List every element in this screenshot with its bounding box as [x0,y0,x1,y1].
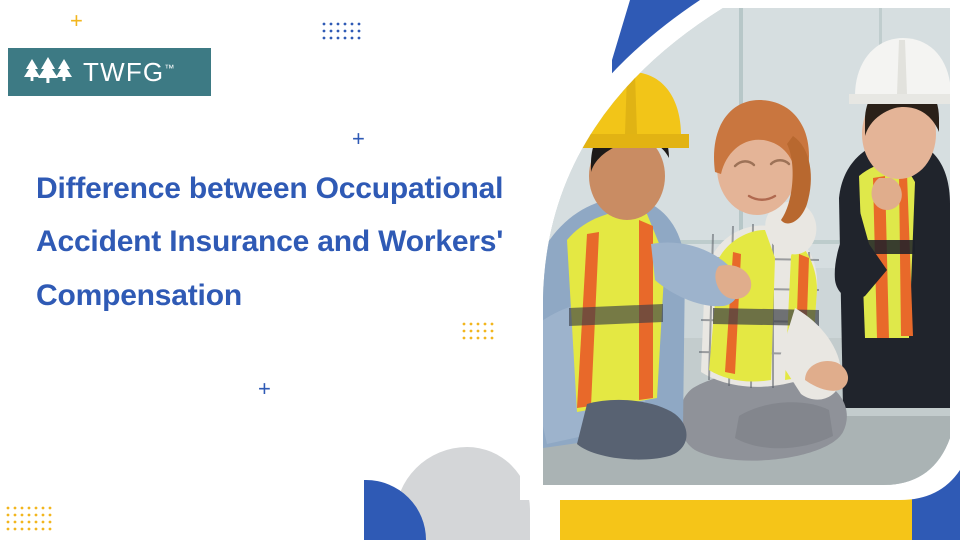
brand-logo-text: TWFG™ [83,57,174,88]
dot-grid-top [322,22,362,44]
three-pine-trees-icon [22,57,74,87]
plus-mark-mid-left: + [352,128,365,150]
dot-grid-mid-left [462,322,496,346]
page-title: Difference between Occupational Accident… [36,162,506,322]
brand-logo[interactable]: TWFG™ [8,48,211,96]
workplace-injury-photo [543,8,950,485]
dot-grid-bottom-left [6,506,54,534]
brand-logo-wordmark: TWFG [83,57,164,87]
brand-trademark-symbol: ™ [164,63,174,74]
plus-mark-below-headline: + [258,378,271,400]
plus-mark-top-left: + [70,10,83,32]
banner-canvas: + + + TWFG™ Difference between Occupatio… [0,0,960,540]
